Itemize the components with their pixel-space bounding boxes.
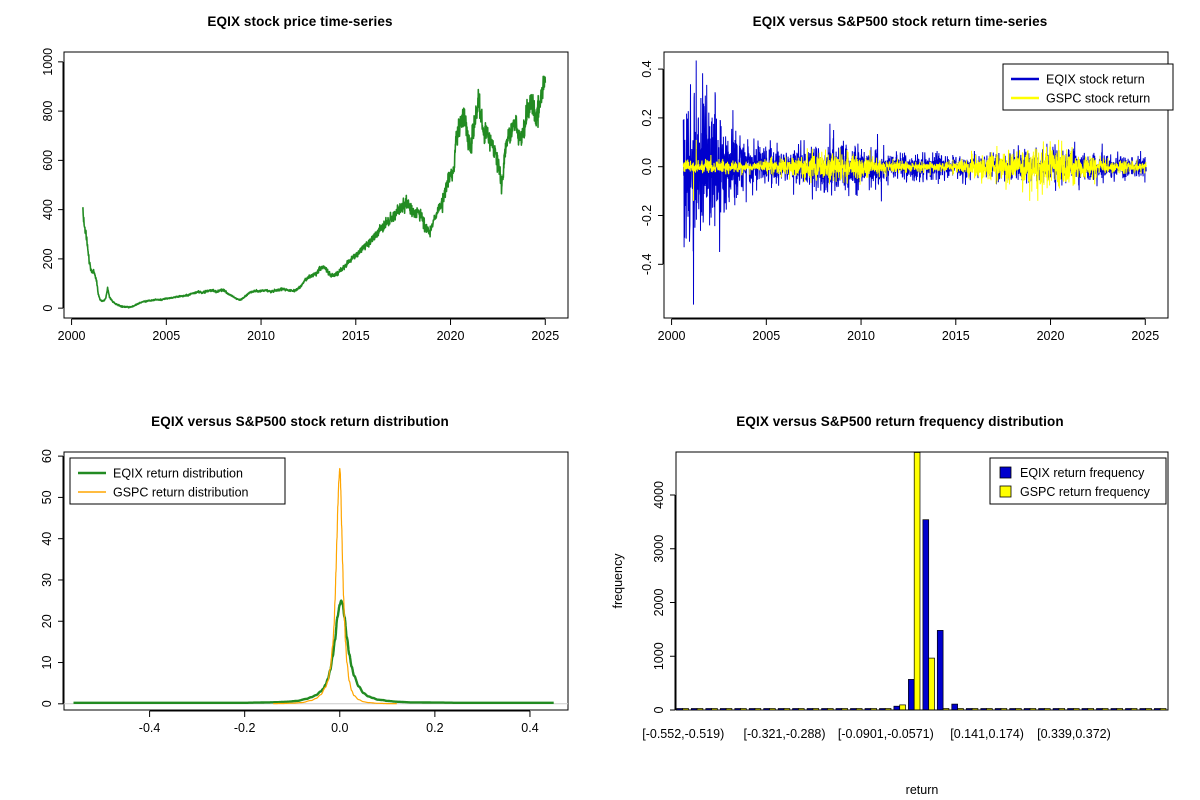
- y-tick-label: 0.2: [640, 109, 654, 126]
- y-tick-label: 800: [41, 101, 55, 122]
- y-tick-label: 400: [41, 199, 55, 220]
- legend-swatch: [1000, 467, 1011, 478]
- legend-label: GSPC return distribution: [113, 486, 249, 500]
- x-tick-label: [-0.321,-0.288): [744, 727, 826, 741]
- y-axis-title: frequency: [611, 553, 625, 609]
- plot-frame: [64, 52, 568, 318]
- x-tick-label: -0.2: [234, 721, 256, 735]
- y-tick-label: 2000: [652, 589, 666, 617]
- x-tick-label: 2020: [437, 329, 465, 343]
- y-tick-label: 40: [40, 532, 54, 546]
- legend-label: EQIX return frequency: [1020, 466, 1145, 480]
- y-tick-label: 10: [40, 656, 54, 670]
- x-tick-label: 2000: [658, 329, 686, 343]
- panel-return-distribution: EQIX versus S&P500 stock return distribu…: [0, 400, 600, 800]
- y-tick-label: 1000: [652, 642, 666, 670]
- y-tick-label: 20: [40, 614, 54, 628]
- plot-area-price: 0200400600800100020002005201020152020202…: [0, 0, 600, 400]
- y-tick-label: 50: [40, 490, 54, 504]
- density-line-gspc: [273, 469, 397, 704]
- x-tick-label: 2005: [152, 329, 180, 343]
- y-tick-label: 1000: [41, 48, 55, 76]
- bar-eqix: [908, 679, 914, 710]
- x-tick-label: 2005: [752, 329, 780, 343]
- y-tick-label: 0: [652, 706, 666, 713]
- y-tick-label: 600: [41, 150, 55, 171]
- y-tick-label: 0: [41, 305, 55, 312]
- figure-grid: EQIX stock price time-series 02004006008…: [0, 0, 1200, 800]
- legend-swatch: [1000, 486, 1011, 497]
- panel-eqix-price-timeseries: EQIX stock price time-series 02004006008…: [0, 0, 600, 400]
- legend-label: GSPC return frequency: [1020, 485, 1151, 499]
- x-tick-label: 2020: [1037, 329, 1065, 343]
- y-tick-label: 30: [40, 573, 54, 587]
- y-tick-label: 200: [41, 248, 55, 269]
- bar-eqix: [923, 520, 929, 710]
- x-tick-label: -0.4: [139, 721, 161, 735]
- x-tick-label: 0.2: [426, 721, 443, 735]
- x-tick-label: 2025: [1131, 329, 1159, 343]
- plot-area-return-ts: -0.4-0.20.00.20.420002005201020152020202…: [600, 0, 1200, 400]
- bar-gspc: [914, 453, 920, 711]
- x-tick-label: 2010: [247, 329, 275, 343]
- bar-gspc: [929, 658, 935, 710]
- y-tick-label: 3000: [652, 535, 666, 563]
- x-tick-label: 0.4: [521, 721, 538, 735]
- x-tick-label: 2000: [58, 329, 86, 343]
- x-tick-label: [-0.552,-0.519): [642, 727, 724, 741]
- y-tick-label: 0: [40, 700, 54, 707]
- density-line-eqix: [74, 601, 554, 703]
- panel-return-frequency: EQIX versus S&P500 return frequency dist…: [600, 400, 1200, 800]
- panel-return-timeseries: EQIX versus S&P500 stock return time-ser…: [600, 0, 1200, 400]
- x-tick-label: 2025: [531, 329, 559, 343]
- price-line-eqix: [83, 76, 545, 307]
- x-tick-label: [0.141,0.174): [950, 727, 1024, 741]
- plot-area-return-dist: 0102030405060-0.4-0.20.00.20.4EQIX retur…: [0, 400, 600, 800]
- bar-eqix: [894, 706, 900, 710]
- plot-area-return-freq: 01000200030004000frequencyreturn[-0.552,…: [600, 400, 1200, 800]
- y-tick-label: -0.2: [640, 205, 654, 227]
- x-tick-label: 2015: [342, 329, 370, 343]
- y-tick-label: -0.4: [640, 253, 654, 275]
- bar-eqix: [937, 630, 943, 710]
- x-tick-label: [0.339,0.372): [1037, 727, 1111, 741]
- y-tick-label: 4000: [652, 481, 666, 509]
- legend-label: GSPC stock return: [1046, 92, 1150, 106]
- x-tick-label: 2010: [847, 329, 875, 343]
- x-tick-label: 2015: [942, 329, 970, 343]
- legend-label: EQIX return distribution: [113, 467, 243, 481]
- bar-gspc: [900, 705, 906, 710]
- x-tick-label: 0.0: [331, 721, 348, 735]
- y-tick-label: 0.4: [640, 60, 654, 77]
- y-tick-label: 60: [40, 449, 54, 463]
- x-axis-title: return: [906, 783, 939, 797]
- y-tick-label: 0.0: [640, 158, 654, 175]
- x-tick-label: [-0.0901,-0.0571): [838, 727, 934, 741]
- bar-eqix: [952, 704, 958, 710]
- legend-label: EQIX stock return: [1046, 73, 1145, 87]
